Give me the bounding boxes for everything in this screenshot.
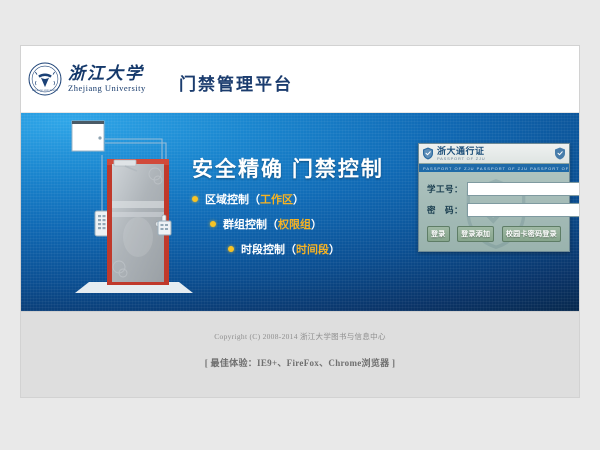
login-panel-body: 学工号： 密 码： 登录 登录添加 校园卡密码登录 <box>419 172 569 251</box>
bullet-dot-icon <box>192 196 198 202</box>
student-id-label: 学工号： <box>427 183 467 195</box>
site-header: ZHEJIANG UNIVERSITY 浙江大学 Zhejiang Univer… <box>21 46 579 113</box>
feature-label: 时段控制（ <box>241 241 296 257</box>
svg-text:ZHEJIANG UNIVERSITY: ZHEJIANG UNIVERSITY <box>32 89 59 92</box>
feature-list: 区域控制（工作区） 群组控制（权限组） 时段控制（时间段） <box>192 191 340 266</box>
feature-label-end: ） <box>311 216 322 232</box>
page-card: ZHEJIANG UNIVERSITY 浙江大学 Zhejiang Univer… <box>20 45 580 398</box>
site-footer: Copyright (C) 2008-2014 浙江大学图书与信息中心 [ 最佳… <box>21 311 579 398</box>
card-reader <box>158 221 171 235</box>
login-panel-strip-text: PASSPORT OF ZJU PASSPORT OF ZJU PASSPORT… <box>419 166 569 171</box>
controller-box <box>72 121 104 151</box>
login-panel-titlebar: 浙大通行证 PASSPORT OF ZJU <box>419 144 569 164</box>
footer-copyright: Copyright (C) 2008-2014 浙江大学图书与信息中心 <box>21 312 579 342</box>
password-row: 密 码： <box>427 203 561 217</box>
feature-item-group-control: 群组控制（权限组） <box>210 216 340 232</box>
hero-slogan: 安全精确 门禁控制 <box>192 153 384 183</box>
platform-title: 门禁管理平台 <box>179 70 293 95</box>
zju-seal-icon: ZHEJIANG UNIVERSITY <box>28 62 62 96</box>
feature-accent: 权限组 <box>278 216 311 232</box>
footer-browser-recommendation: [ 最佳体验：IE9+、FireFox、Chrome浏览器 ] <box>21 356 579 369</box>
password-input[interactable] <box>467 203 579 217</box>
feature-item-area-control: 区域控制（工作区） <box>192 191 340 207</box>
login-panel-title: 浙大通行证 PASSPORT OF ZJU <box>437 147 485 161</box>
feature-item-time-control: 时段控制（时间段） <box>228 241 340 257</box>
hero-banner: 安全精确 门禁控制 区域控制（工作区） 群组控制（权限组） 时段控制（时间段） <box>21 113 579 311</box>
brand[interactable]: ZHEJIANG UNIVERSITY 浙江大学 Zhejiang Univer… <box>28 62 146 96</box>
brand-name-cn: 浙江大学 <box>68 65 146 83</box>
login-panel-strip: PASSPORT OF ZJU PASSPORT OF ZJU PASSPORT… <box>419 164 569 172</box>
feature-label-end: ） <box>329 241 340 257</box>
feature-label: 区域控制（ <box>205 191 260 207</box>
feature-accent: 时间段 <box>296 241 329 257</box>
login-panel-title-en: PASSPORT OF ZJU <box>437 157 485 161</box>
password-label: 密 码： <box>427 204 467 216</box>
student-id-input[interactable] <box>467 182 579 196</box>
access-control-door-illustration <box>59 117 199 303</box>
bullet-dot-icon <box>228 246 234 252</box>
login-panel-title-cn: 浙大通行证 <box>437 147 485 156</box>
bullet-dot-icon <box>210 221 216 227</box>
brand-name-en: Zhejiang University <box>68 83 146 94</box>
shield-icon <box>422 147 434 160</box>
login-button-row: 登录 登录添加 校园卡密码登录 <box>427 226 561 242</box>
feature-label: 群组控制（ <box>223 216 278 232</box>
login-button[interactable]: 登录 <box>427 226 450 242</box>
feature-label-end: ） <box>293 191 304 207</box>
student-id-row: 学工号： <box>427 182 561 196</box>
shield-icon <box>554 147 566 160</box>
campus-card-login-button[interactable]: 校园卡密码登录 <box>502 226 561 242</box>
login-panel: 浙大通行证 PASSPORT OF ZJU PASSPORT OF ZJU PA… <box>418 143 570 252</box>
login-add-button[interactable]: 登录添加 <box>457 226 494 242</box>
feature-accent: 工作区 <box>260 191 293 207</box>
brand-names: 浙江大学 Zhejiang University <box>68 65 146 94</box>
